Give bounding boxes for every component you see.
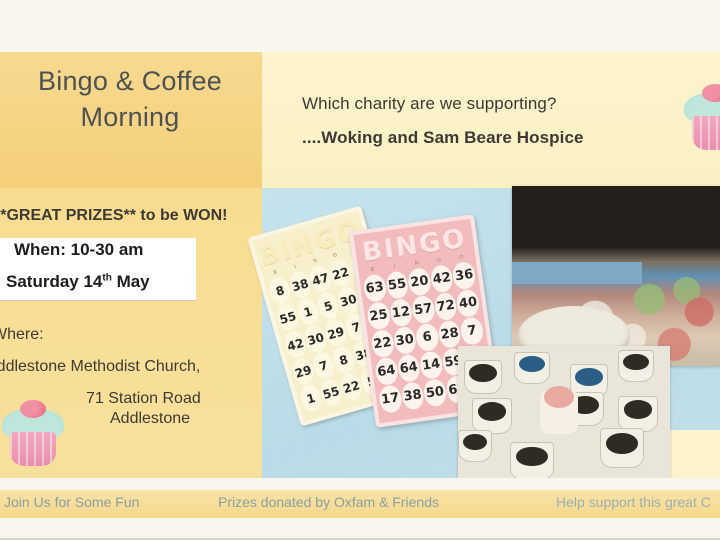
bingo-cell: 42: [429, 264, 454, 294]
title-line-2: Morning: [4, 100, 256, 136]
when-date-ordinal: th: [102, 272, 111, 283]
bingo-cell: 12: [388, 298, 413, 328]
footer-right-text: Help support this great C: [556, 494, 711, 510]
when-time-text: When: 10-30 am: [14, 240, 143, 260]
blue-tablecloth: [512, 262, 642, 284]
cupcake-wrapper: [10, 432, 56, 466]
bingo-cell: 50: [423, 378, 448, 408]
where-street: 71 Station Road: [86, 390, 201, 408]
coffee-cup: [600, 428, 644, 468]
cupcake-icon-top-right: [684, 78, 720, 150]
cake-table-photo: [512, 186, 720, 366]
bingo-cell: 64: [396, 353, 421, 383]
footer-left-text: Join Us for Some Fun: [4, 494, 139, 510]
bingo-cell: 7: [459, 316, 484, 346]
cupcake-icon-bottom-left: [2, 388, 74, 466]
coffee-cup: [472, 398, 512, 434]
bingo-cell: 20: [407, 267, 432, 297]
great-prizes-text: **GREAT PRIZES** to be WON!: [0, 207, 262, 225]
bingo-cell: 64: [374, 356, 399, 386]
bingo-cell: 30: [392, 326, 417, 356]
where-venue: Addlestone Methodist Church,: [0, 358, 200, 376]
coffee-cup: [618, 350, 654, 382]
bingo-cell: 40: [456, 288, 481, 318]
bingo-cell: 22: [370, 329, 395, 359]
bingo-cell: 25: [366, 301, 391, 331]
footer-bottom-margin: [0, 518, 720, 540]
bingo-cell: 36: [452, 261, 477, 291]
bingo-cell: 14: [419, 350, 444, 380]
footer-middle-text: Prizes donated by Oxfam & Friends: [218, 494, 439, 510]
top-margin-band: [0, 0, 720, 52]
cupcake-berry: [20, 400, 46, 418]
coffee-cup: [618, 396, 658, 432]
bingo-cell: 72: [433, 292, 458, 322]
coffee-cups-photo: [458, 346, 670, 484]
bingo-cell: 57: [411, 295, 436, 325]
where-town: Addlestone: [110, 410, 190, 428]
when-date-suffix: May: [112, 272, 150, 291]
when-date-prefix: Saturday 14: [6, 272, 102, 291]
cupcake-wrapper: [692, 116, 720, 150]
charity-answer: ....Woking and Sam Beare Hospice: [302, 128, 584, 148]
charity-question: Which charity are we supporting?: [302, 94, 557, 114]
poster-canvas: Bingo & Coffee Morning Which charity are…: [0, 0, 720, 540]
bingo-cell: 55: [385, 270, 410, 300]
bingo-cell: 6: [415, 322, 440, 352]
coffee-cup: [510, 442, 554, 480]
coffee-cup: [514, 352, 550, 384]
bingo-cell: 63: [362, 273, 387, 303]
cupcake-in-photo: [540, 390, 578, 434]
where-label: Where:: [0, 326, 44, 344]
title-line-1: Bingo & Coffee: [4, 64, 256, 100]
charity-panel-background: [262, 52, 720, 188]
footer-top-margin: [0, 478, 720, 490]
coffee-cup: [464, 360, 502, 394]
when-date-text: Saturday 14th May: [6, 272, 150, 292]
bingo-cell: 17: [378, 384, 403, 414]
coffee-cup: [458, 430, 492, 462]
page-title: Bingo & Coffee Morning: [4, 64, 256, 135]
bingo-cell: 28: [437, 319, 462, 349]
bingo-cell: 38: [400, 381, 425, 411]
